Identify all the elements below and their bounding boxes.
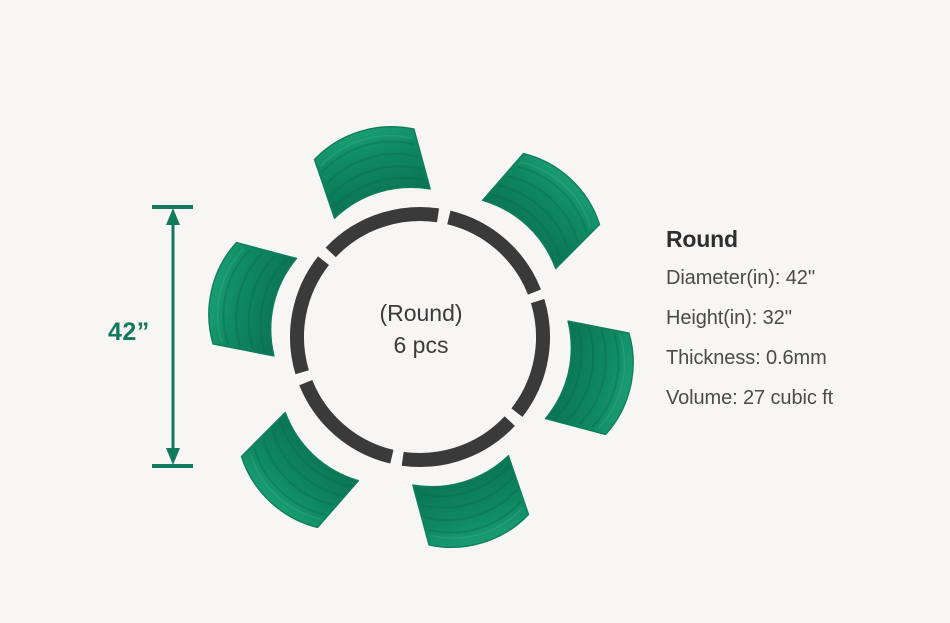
panel-bottom-right (411, 455, 533, 558)
dimension-indicator (152, 207, 193, 466)
panel-right (545, 319, 642, 437)
panel-left (200, 240, 297, 358)
panel-top-left (311, 116, 433, 219)
spec-row-diameter: Diameter(in): 42'' (666, 267, 926, 290)
ring-center-label: (Round) 6 pcs (340, 298, 502, 361)
center-label-line2: 6 pcs (340, 330, 502, 362)
center-label-line1: (Round) (340, 298, 502, 330)
spec-panel: Round Diameter(in): 42'' Height(in): 32'… (666, 226, 926, 427)
arrow-up-icon (166, 208, 180, 225)
arrow-down-icon (166, 448, 180, 465)
spec-row-thickness: Thickness: 0.6mm (666, 347, 926, 370)
dimension-label: 42” (108, 318, 150, 347)
spec-row-volume: Volume: 27 cubic ft (666, 387, 926, 410)
spec-title: Round (666, 226, 926, 253)
spec-row-height: Height(in): 32'' (666, 307, 926, 330)
product-diagram-stage: 42” (Round) 6 pcs Round Diameter(in): 42… (0, 0, 950, 623)
